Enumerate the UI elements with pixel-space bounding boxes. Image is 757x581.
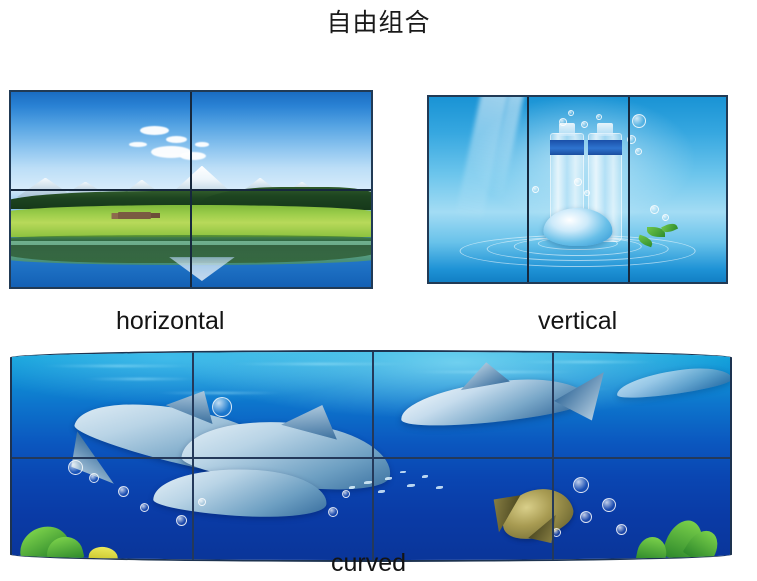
curved-wall-surface bbox=[10, 350, 732, 562]
small-fish bbox=[400, 471, 406, 473]
cloud-icon bbox=[180, 152, 205, 160]
caustic-light bbox=[227, 363, 415, 365]
video-wall-curved[interactable] bbox=[10, 350, 732, 562]
small-fish bbox=[422, 475, 428, 478]
caustic-light bbox=[515, 361, 659, 363]
bezel-divider-vertical bbox=[192, 352, 194, 560]
small-fish bbox=[349, 486, 355, 489]
bubble-icon bbox=[118, 486, 129, 497]
bubble-icon bbox=[68, 460, 83, 475]
caustic-light bbox=[39, 365, 198, 367]
bubble-icon bbox=[580, 511, 592, 523]
bubble-icon bbox=[581, 121, 588, 128]
bezel-divider-vertical bbox=[527, 95, 529, 284]
leaf-icon bbox=[661, 221, 678, 234]
bezel-divider-vertical bbox=[628, 95, 630, 284]
seagrass bbox=[636, 534, 670, 562]
bubble-icon bbox=[176, 515, 187, 526]
bubble-icon bbox=[635, 148, 642, 155]
shark-tail-fin bbox=[554, 372, 622, 432]
small-fish bbox=[436, 486, 443, 489]
bezel-divider-vertical bbox=[372, 352, 374, 560]
water-bottles-artwork bbox=[427, 95, 728, 284]
bubble-icon bbox=[584, 190, 590, 196]
bubble-icon bbox=[596, 114, 602, 120]
coral-yellow bbox=[89, 546, 119, 562]
cloud-icon bbox=[140, 126, 169, 135]
farmhouse bbox=[118, 212, 151, 219]
bubble-icon bbox=[328, 507, 338, 517]
bubble-icon bbox=[568, 110, 574, 116]
bubble-icon bbox=[89, 473, 99, 483]
bubble-icon bbox=[342, 490, 350, 498]
bottle-cap bbox=[588, 140, 622, 155]
page-title: 自由组合 bbox=[0, 8, 757, 40]
caption-vertical: vertical bbox=[538, 306, 617, 336]
bubble-icon bbox=[632, 114, 646, 128]
bubble-icon bbox=[650, 205, 659, 214]
bezel-divider-vertical bbox=[552, 352, 554, 560]
bubble-icon bbox=[662, 214, 669, 221]
bubble-icon bbox=[532, 186, 539, 193]
shark-far bbox=[615, 363, 732, 402]
cloud-icon bbox=[166, 136, 188, 143]
bubble-icon bbox=[602, 498, 616, 512]
bottle-cap bbox=[550, 140, 584, 155]
caustic-light bbox=[82, 378, 198, 380]
small-fish bbox=[385, 477, 392, 480]
small-fish bbox=[378, 490, 385, 493]
caption-curved: curved bbox=[331, 548, 406, 578]
small-fish bbox=[407, 484, 415, 487]
cloud-icon bbox=[195, 142, 210, 147]
video-wall-horizontal[interactable] bbox=[9, 90, 373, 289]
caption-horizontal: horizontal bbox=[116, 306, 224, 336]
video-wall-vertical[interactable] bbox=[427, 95, 728, 284]
bezel-divider-horizontal bbox=[9, 189, 373, 191]
underwater-artwork bbox=[10, 350, 732, 562]
bubble-icon bbox=[140, 503, 149, 512]
caustic-light bbox=[154, 392, 284, 394]
bubble-icon bbox=[212, 397, 232, 417]
bezel-divider-horizontal bbox=[12, 457, 730, 459]
bubble-icon bbox=[616, 524, 627, 535]
bottle-neck bbox=[597, 123, 613, 136]
bubble-icon bbox=[573, 477, 589, 493]
